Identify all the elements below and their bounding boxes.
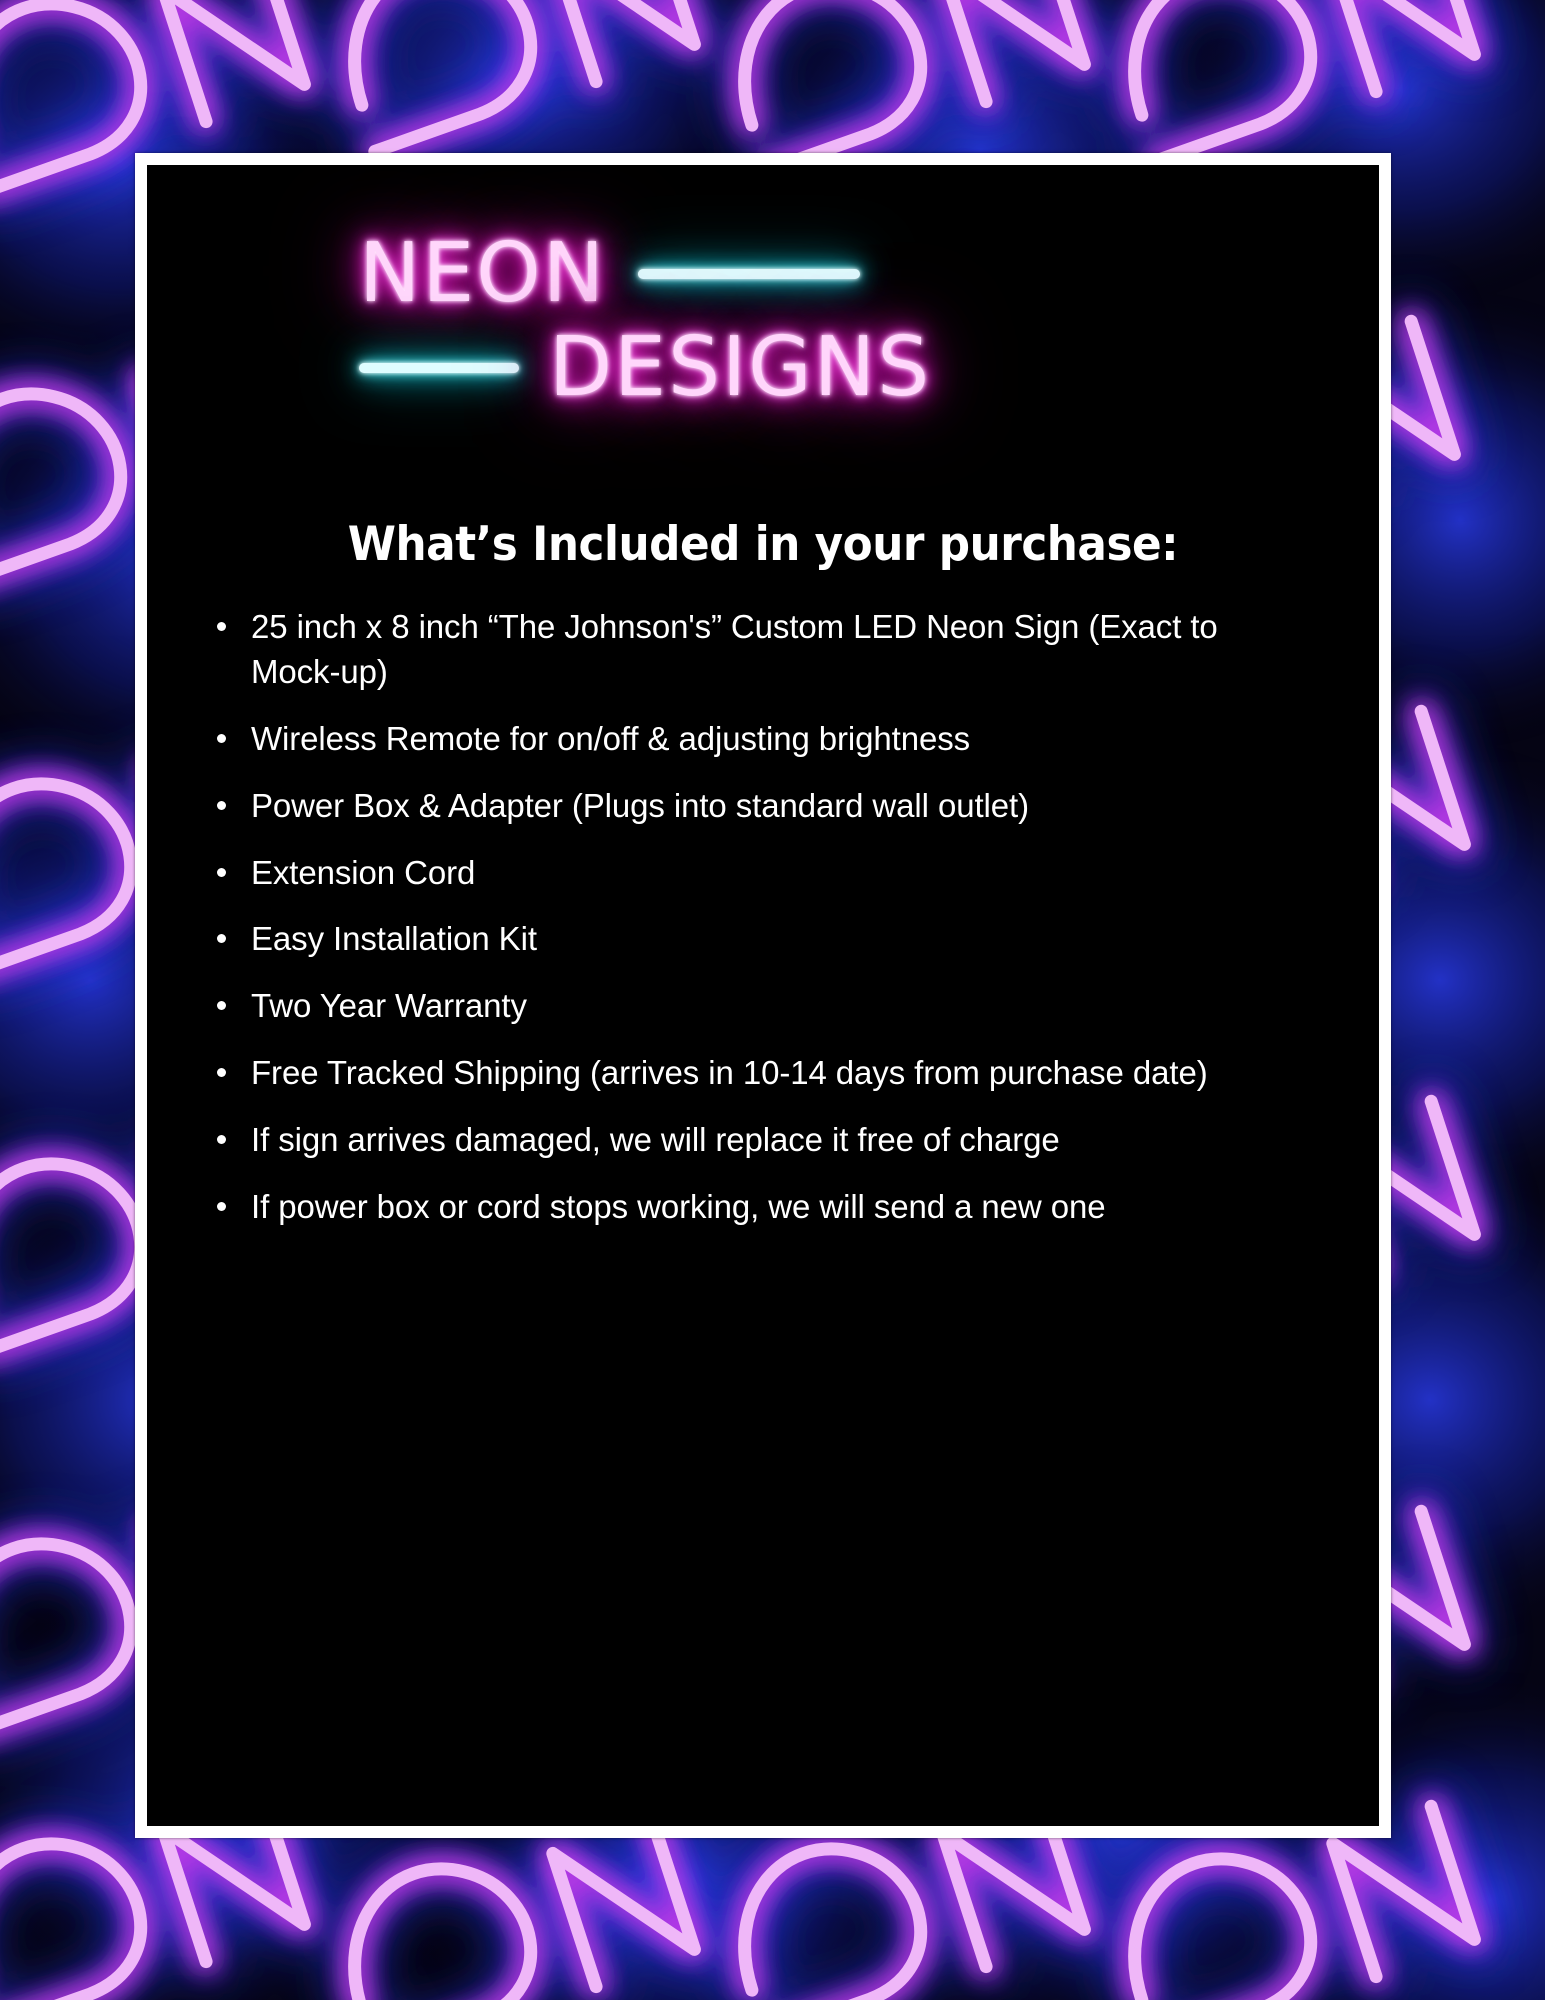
bullet-icon (217, 606, 251, 631)
bullet-icon (217, 785, 251, 810)
logo-word-neon: NEON (359, 233, 606, 315)
neon-designs-logo: NEON DESIGNS (147, 227, 1379, 477)
poster-card: NEON DESIGNS What’s Included in your pur… (147, 165, 1379, 1826)
bullet-icon (217, 718, 251, 743)
logo-word-designs: DESIGNS (549, 327, 931, 409)
bullet-icon (217, 852, 251, 877)
bullet-icon (217, 1052, 251, 1077)
list-item-label: Easy Installation Kit (251, 918, 537, 963)
list-item-label: Free Tracked Shipping (arrives in 10-14 … (251, 1052, 1208, 1097)
poster-page: NEON DESIGNS What’s Included in your pur… (0, 0, 1545, 2000)
included-items-list: 25 inch x 8 inch “The Johnson's” Custom … (147, 606, 1379, 1231)
list-item: If sign arrives damaged, we will replace… (217, 1119, 1323, 1164)
list-item-label: 25 inch x 8 inch “The Johnson's” Custom … (251, 606, 1307, 696)
logo-row-top: NEON (359, 233, 860, 315)
bullet-icon (217, 1186, 251, 1211)
list-item-label: Extension Cord (251, 852, 475, 897)
list-item: If power box or cord stops working, we w… (217, 1186, 1323, 1231)
bullet-icon (217, 918, 251, 943)
list-item: Two Year Warranty (217, 985, 1323, 1030)
list-item-label: If sign arrives damaged, we will replace… (251, 1119, 1060, 1164)
page-title: What’s Included in your purchase: (190, 517, 1336, 572)
list-item: Easy Installation Kit (217, 918, 1323, 963)
list-item: 25 inch x 8 inch “The Johnson's” Custom … (217, 606, 1323, 696)
list-item: Free Tracked Shipping (arrives in 10-14 … (217, 1052, 1323, 1097)
bullet-icon (217, 985, 251, 1010)
logo-row-bottom: DESIGNS (359, 327, 931, 409)
cyan-neon-bar-left (359, 363, 519, 373)
list-item-label: Two Year Warranty (251, 985, 527, 1030)
poster-card-border: NEON DESIGNS What’s Included in your pur… (135, 153, 1391, 1838)
list-item-label: Wireless Remote for on/off & adjusting b… (251, 718, 970, 763)
list-item: Wireless Remote for on/off & adjusting b… (217, 718, 1323, 763)
bullet-icon (217, 1119, 251, 1144)
list-item-label: If power box or cord stops working, we w… (251, 1186, 1105, 1231)
list-item: Power Box & Adapter (Plugs into standard… (217, 785, 1323, 830)
cyan-neon-bar-right (638, 269, 860, 279)
list-item-label: Power Box & Adapter (Plugs into standard… (251, 785, 1029, 830)
list-item: Extension Cord (217, 852, 1323, 897)
